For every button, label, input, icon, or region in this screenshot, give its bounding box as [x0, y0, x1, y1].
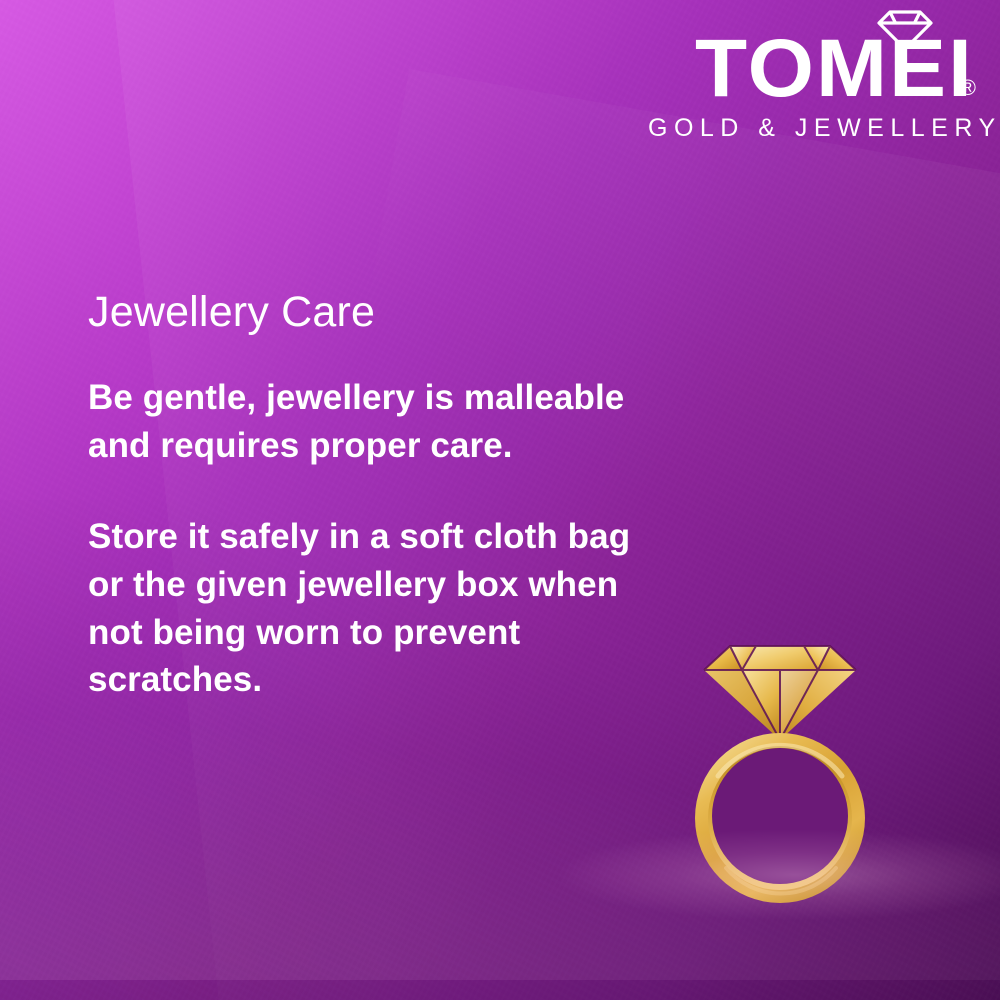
poster-canvas: TOMEI ® GOLD & JEWELLERY Jewellery Care …: [0, 0, 1000, 1000]
body-paragraph-2: Store it safely in a soft cloth bag or t…: [88, 513, 658, 703]
brand-logo: TOMEI ® GOLD & JEWELLERY: [648, 6, 978, 143]
body-paragraph-1: Be gentle, jewellery is malleable and re…: [88, 374, 658, 469]
ring-vector: [690, 630, 900, 930]
gold-band: [695, 733, 865, 903]
copy-block: Jewellery Care Be gentle, jewellery is m…: [88, 288, 658, 704]
logo-wordmark: TOMEI: [635, 30, 978, 108]
logo-tagline: GOLD & JEWELLERY: [648, 114, 978, 143]
registered-trademark-symbol: ®: [960, 77, 976, 99]
page-title: Jewellery Care: [88, 288, 658, 336]
brilliant-cut-diamond: [704, 646, 856, 740]
diamond-ring-illustration: [690, 630, 900, 930]
